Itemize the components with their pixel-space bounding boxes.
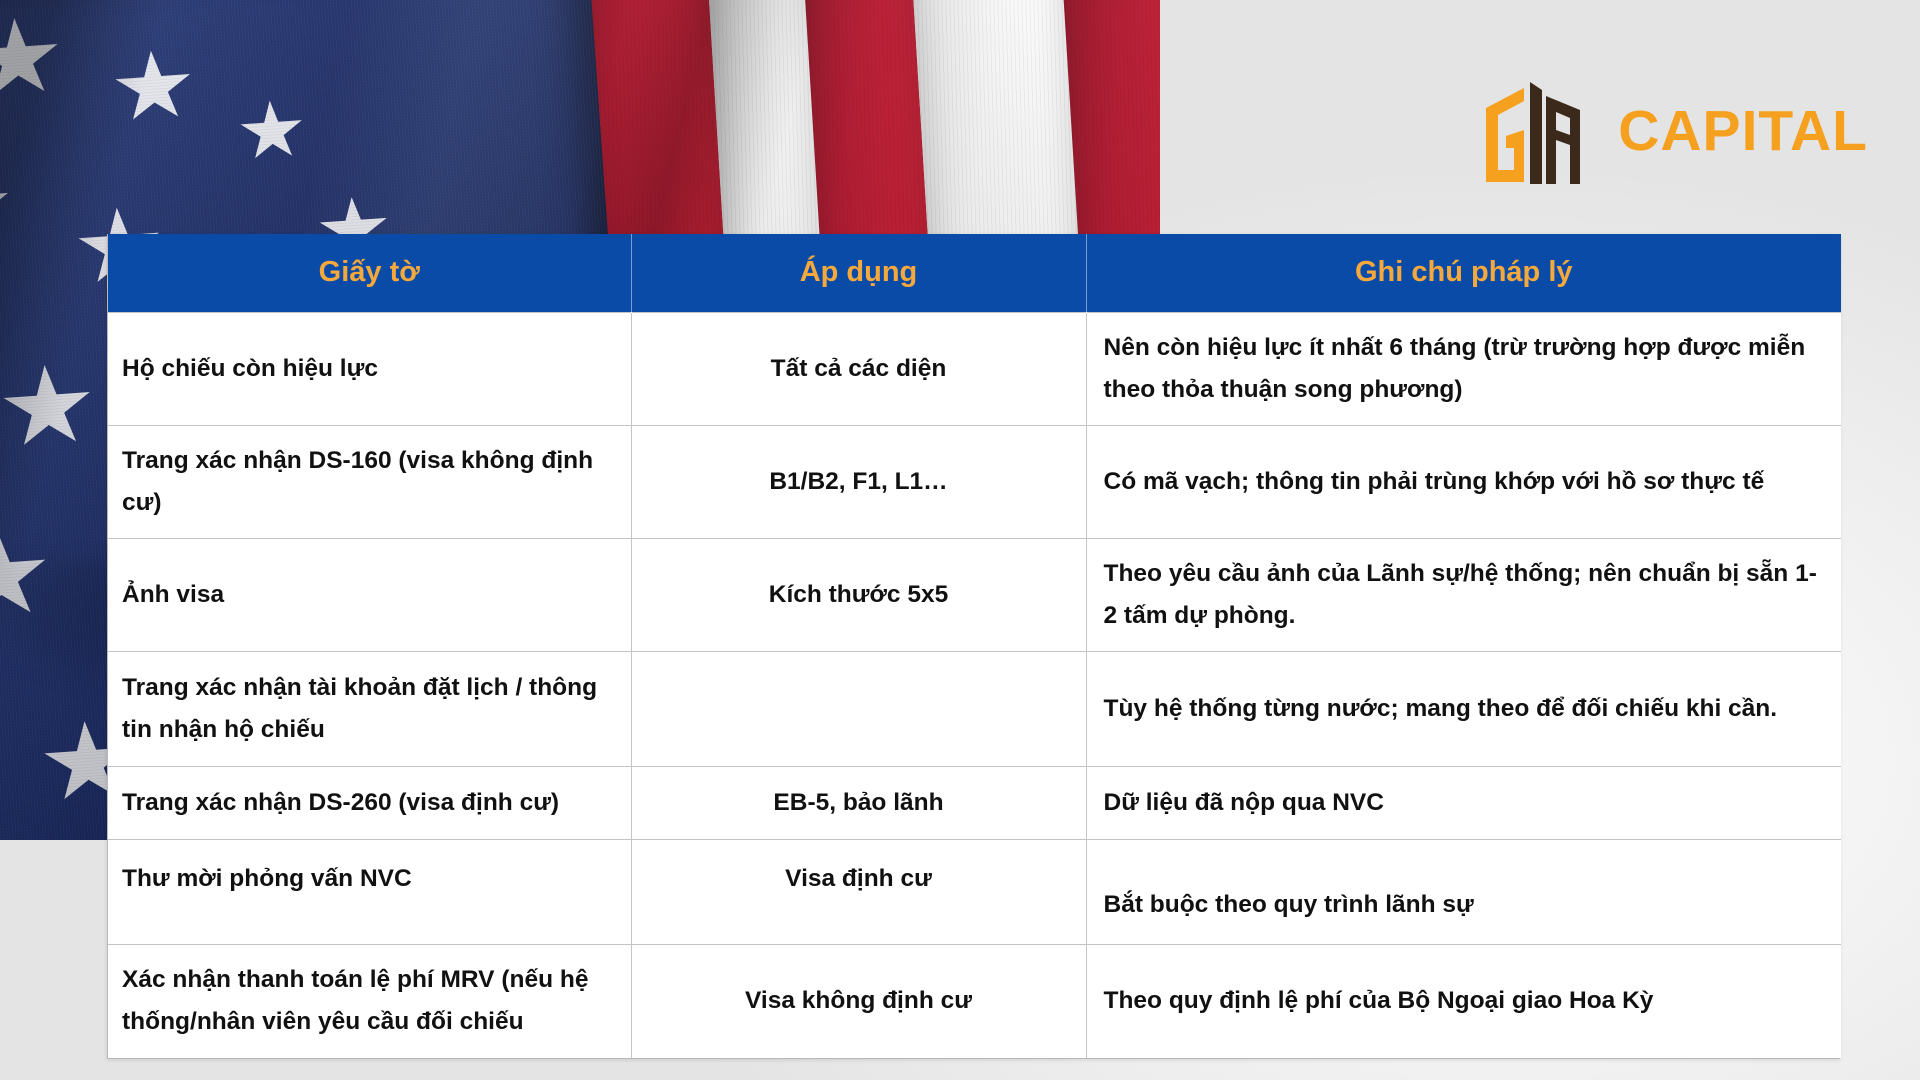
cell-note: Bắt buộc theo quy trình lãnh sự (1086, 840, 1841, 945)
cell-note: Nên còn hiệu lực ít nhất 6 tháng (trừ tr… (1086, 312, 1841, 425)
documents-table: Giấy tờ Áp dụng Ghi chú pháp lý Hộ chiếu… (107, 234, 1840, 1059)
table-row: Xác nhận thanh toán lệ phí MRV (nếu hệ t… (108, 945, 1841, 1058)
cell-note: Có mã vạch; thông tin phải trùng khớp vớ… (1086, 425, 1841, 538)
cell-document: Hộ chiếu còn hiệu lực (108, 312, 631, 425)
cell-document: Trang xác nhận DS-160 (visa không định c… (108, 425, 631, 538)
cell-document: Thư mời phỏng vấn NVC (108, 840, 631, 945)
cell-document: Trang xác nhận DS-260 (visa định cư) (108, 767, 631, 840)
ga-logo-mark-icon (1478, 78, 1596, 184)
cell-note: Theo quy định lệ phí của Bộ Ngoại giao H… (1086, 945, 1841, 1058)
table-header-row: Giấy tờ Áp dụng Ghi chú pháp lý (108, 234, 1841, 312)
table-row: Hộ chiếu còn hiệu lực Tất cả các diện Nê… (108, 312, 1841, 425)
cell-applies: Visa định cư (631, 840, 1086, 945)
page-root: CAPITAL Giấy tờ Áp dụng Ghi chú pháp lý … (0, 0, 1920, 1080)
table-row: Trang xác nhận tài khoản đặt lịch / thôn… (108, 652, 1841, 767)
column-header-documents: Giấy tờ (108, 234, 631, 312)
cell-note: Tùy hệ thống từng nước; mang theo để đối… (1086, 652, 1841, 767)
table-row: Trang xác nhận DS-160 (visa không định c… (108, 425, 1841, 538)
cell-applies: B1/B2, F1, L1… (631, 425, 1086, 538)
cell-document: Xác nhận thanh toán lệ phí MRV (nếu hệ t… (108, 945, 631, 1058)
brand-logo[interactable]: CAPITAL (1478, 78, 1868, 184)
column-header-applies: Áp dụng (631, 234, 1086, 312)
cell-applies: EB-5, bảo lãnh (631, 767, 1086, 840)
table-row: Trang xác nhận DS-260 (visa định cư) EB-… (108, 767, 1841, 840)
cell-note: Theo yêu cầu ảnh của Lãnh sự/hệ thống; n… (1086, 539, 1841, 652)
column-header-legalnote: Ghi chú pháp lý (1086, 234, 1841, 312)
table-row: Ảnh visa Kích thước 5x5 Theo yêu cầu ảnh… (108, 539, 1841, 652)
table-row: Thư mời phỏng vấn NVC Visa định cư Bắt b… (108, 840, 1841, 945)
cell-applies: Kích thước 5x5 (631, 539, 1086, 652)
cell-applies: Visa không định cư (631, 945, 1086, 1058)
brand-name: CAPITAL (1618, 98, 1868, 164)
cell-document: Trang xác nhận tài khoản đặt lịch / thôn… (108, 652, 631, 767)
cell-note: Dữ liệu đã nộp qua NVC (1086, 767, 1841, 840)
cell-document: Ảnh visa (108, 539, 631, 652)
cell-applies (631, 652, 1086, 767)
cell-applies: Tất cả các diện (631, 312, 1086, 425)
